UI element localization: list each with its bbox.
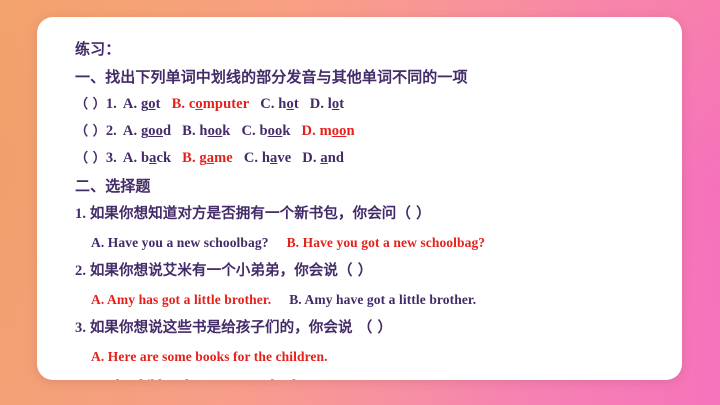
option-letter: B. [182,123,199,139]
section-one-question-list: （ ）1.A. gotB. computerC. hotD. lot（ ）2.A… [75,91,674,172]
answer-option[interactable]: A. Have you a new schoolbag? [91,235,269,250]
section-one-heading: 一、找出下列单词中划线的部分发音与其他单词不同的一项 [75,63,674,91]
word-prefix: b [141,150,149,166]
answer-option[interactable]: A. Here are some books for the children. [75,343,674,371]
word-prefix: b [259,123,267,139]
option-letter: A. [123,150,141,166]
answer-bracket[interactable]: （ ） [75,151,106,166]
question-number: 1. [75,206,90,222]
word-option[interactable]: A. got [123,96,161,112]
word-suffix: t [294,96,299,112]
question-number: 3. [106,150,117,166]
answer-row: A. Amy has got a little brother.B. Amy h… [75,286,674,314]
answer-option[interactable]: B. The children have got some books. [75,371,674,380]
option-letter: A. [123,96,141,112]
underlined-phoneme: a [320,150,327,166]
option-letter: A. [123,123,141,139]
option-letter: D. [310,96,328,112]
exercise-content: 练习： 一、找出下列单词中划线的部分发音与其他单词不同的一项 （ ）1.A. g… [75,21,674,380]
word-suffix: ve [277,150,291,166]
question-prompt: 如果你想说艾米有一个小弟弟，你会说（ ） [90,263,373,279]
option-letter: C. [260,96,278,112]
question-number: 2. [106,123,117,139]
word-suffix: mputer [203,96,250,112]
section-two-question: 2. 如果你想说艾米有一个小弟弟，你会说（ ） [75,257,674,286]
word-prefix: h [199,123,207,139]
answer-bracket[interactable]: （ ） [75,124,106,139]
section-two-heading: 二、选择题 [75,172,674,200]
section-one-question: （ ）1.A. gotB. computerC. hotD. lot [75,91,674,118]
underlined-phoneme: o [286,96,293,112]
word-suffix: me [214,150,233,166]
option-letter: B. [182,150,199,166]
section-two-question-list: 1. 如果你想知道对方是否拥有一个新书包，你会问（ ）A. Have you a… [75,200,674,380]
option-letter: C. [241,123,259,139]
underlined-phoneme: oo [208,123,223,139]
word-option[interactable]: A. back [123,150,171,166]
question-prompt: 如果你想说这些书是给孩子们的，你会说 （ ） [90,320,392,336]
answer-option[interactable]: B. Have you got a new schoolbag? [287,235,486,250]
question-number: 3. [75,320,90,336]
section-one-question: （ ）2.A. goodB. hookC. bookD. moon [75,118,674,145]
word-suffix: nd [328,150,344,166]
word-option[interactable]: B. hook [182,123,230,139]
word-option[interactable]: D. and [302,150,344,166]
section-two-question: 1. 如果你想知道对方是否拥有一个新书包，你会问（ ） [75,200,674,229]
option-letter: C. [244,150,262,166]
word-suffix: t [156,96,161,112]
question-number: 2. [75,263,90,279]
word-option[interactable]: A. good [123,123,171,139]
word-option[interactable]: C. book [241,123,290,139]
word-option[interactable]: B. computer [172,96,250,112]
word-suffix: k [222,123,230,139]
word-suffix: ck [156,150,171,166]
word-prefix: g [199,150,206,166]
answer-option[interactable]: B. Amy have got a little brother. [289,292,476,307]
content-card: 练习： 一、找出下列单词中划线的部分发音与其他单词不同的一项 （ ）1.A. g… [37,17,682,380]
page-title: 练习： [75,21,674,63]
word-option[interactable]: D. moon [302,123,355,139]
word-option[interactable]: D. lot [310,96,344,112]
underlined-phoneme: o [148,96,155,112]
word-option[interactable]: B. game [182,150,233,166]
word-option[interactable]: C. have [244,150,291,166]
answer-bracket[interactable]: （ ） [75,97,106,112]
word-suffix: t [339,96,344,112]
underlined-phoneme: oo [148,123,163,139]
answer-option[interactable]: A. Amy has got a little brother. [91,292,271,307]
question-prompt: 如果你想知道对方是否拥有一个新书包，你会问（ ） [90,206,431,222]
question-number: 1. [106,96,117,112]
answer-row: A. Have you a new schoolbag?B. Have you … [75,229,674,257]
word-prefix: m [320,123,332,139]
slide-canvas: 练习： 一、找出下列单词中划线的部分发音与其他单词不同的一项 （ ）1.A. g… [0,0,720,405]
word-option[interactable]: C. hot [260,96,299,112]
word-prefix: h [262,150,270,166]
section-two-question: 3. 如果你想说这些书是给孩子们的，你会说 （ ） [75,314,674,343]
underlined-phoneme: oo [268,123,283,139]
section-one-question: （ ）3.A. backB. gameC. haveD. and [75,145,674,172]
option-letter: D. [302,123,320,139]
word-suffix: n [346,123,354,139]
word-suffix: d [163,123,171,139]
underlined-phoneme: oo [332,123,347,139]
word-suffix: k [282,123,290,139]
option-letter: B. [172,96,189,112]
option-letter: D. [302,150,320,166]
underlined-phoneme: o [195,96,202,112]
